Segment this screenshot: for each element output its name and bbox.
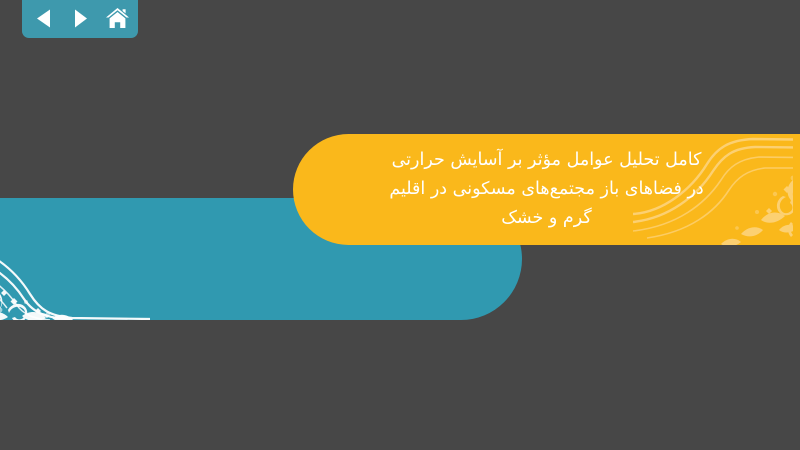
home-icon xyxy=(105,7,130,30)
back-button[interactable] xyxy=(30,5,56,31)
slide-canvas: کامل تحلیل عوامل مؤثر بر آسایش حرارتی در… xyxy=(0,0,800,450)
navigation-bar xyxy=(22,0,138,38)
triangle-left-icon xyxy=(34,8,53,29)
forward-button[interactable] xyxy=(67,5,93,31)
orange-arabesque-ornament xyxy=(633,134,793,245)
triangle-right-icon xyxy=(72,8,89,29)
orange-title-banner xyxy=(293,134,800,245)
home-button[interactable] xyxy=(104,5,130,31)
teal-arabesque-ornament xyxy=(0,198,150,320)
